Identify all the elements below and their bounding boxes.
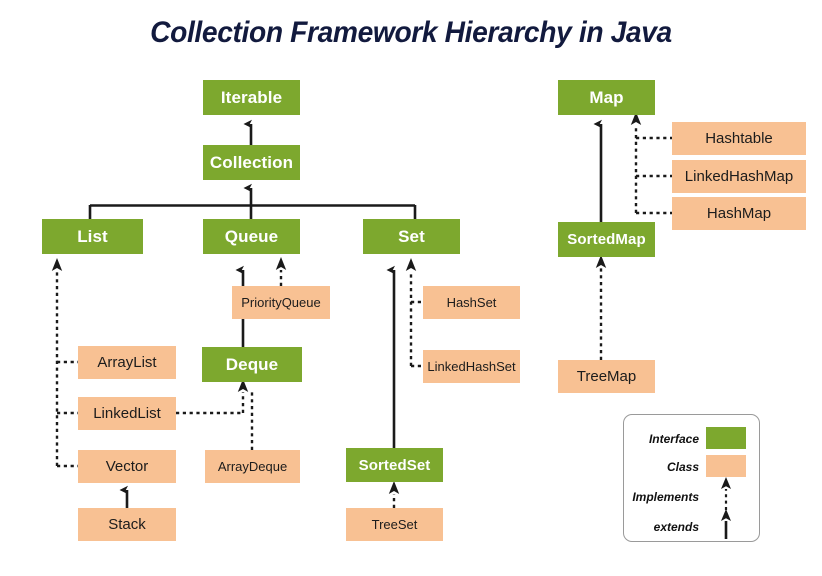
legend-swatch-class (706, 455, 746, 477)
node-label: List (77, 228, 108, 245)
node-deque[interactable]: Deque (202, 347, 302, 382)
node-label: Deque (226, 356, 278, 373)
node-label: Collection (210, 154, 293, 171)
node-vector[interactable]: Vector (78, 450, 176, 483)
node-label: Stack (108, 517, 146, 532)
node-label: PriorityQueue (241, 296, 320, 309)
node-label: HashMap (707, 206, 771, 221)
node-linkedhashset[interactable]: LinkedHashSet (423, 350, 520, 383)
node-arraydeque[interactable]: ArrayDeque (205, 450, 300, 483)
node-arraylist[interactable]: ArrayList (78, 346, 176, 379)
node-stack[interactable]: Stack (78, 508, 176, 541)
node-label: ArrayDeque (218, 460, 287, 473)
node-set[interactable]: Set (363, 219, 460, 254)
node-queue[interactable]: Queue (203, 219, 300, 254)
node-map[interactable]: Map (558, 80, 655, 115)
legend-label-extends: extends (654, 520, 699, 534)
node-treeset[interactable]: TreeSet (346, 508, 443, 541)
node-iterable[interactable]: Iterable (203, 80, 300, 115)
node-label: LinkedHashMap (685, 169, 793, 184)
diagram-canvas: Collection Framework Hierarchy in Java (0, 0, 822, 576)
node-label: Iterable (221, 89, 282, 106)
legend-label-class: Class (667, 460, 699, 474)
node-label: ArrayList (97, 355, 156, 370)
node-priorityqueue[interactable]: PriorityQueue (232, 286, 330, 319)
node-label: Vector (106, 459, 149, 474)
node-label: TreeMap (577, 369, 636, 384)
node-label: SortedMap (567, 232, 645, 247)
legend-label-interface: Interface (649, 432, 699, 446)
node-label: LinkedHashSet (427, 360, 515, 373)
node-sortedset[interactable]: SortedSet (346, 448, 443, 482)
node-linkedhashmap[interactable]: LinkedHashMap (672, 160, 806, 193)
node-collection[interactable]: Collection (203, 145, 300, 180)
node-label: Map (589, 89, 623, 106)
node-label: LinkedList (93, 406, 161, 421)
legend-label-implements: Implements (632, 490, 699, 504)
node-label: HashSet (447, 296, 497, 309)
node-label: Hashtable (705, 131, 773, 146)
node-hashtable[interactable]: Hashtable (672, 122, 806, 155)
node-sortedmap[interactable]: SortedMap (558, 222, 655, 257)
node-label: Set (398, 228, 425, 245)
node-treemap[interactable]: TreeMap (558, 360, 655, 393)
node-hashmap[interactable]: HashMap (672, 197, 806, 230)
node-linkedlist[interactable]: LinkedList (78, 397, 176, 430)
legend: Interface Class Implements extends (623, 414, 760, 542)
node-label: SortedSet (359, 458, 431, 473)
node-label: Queue (225, 228, 278, 245)
page-title: Collection Framework Hierarchy in Java (25, 16, 798, 50)
node-list[interactable]: List (42, 219, 143, 254)
node-hashset[interactable]: HashSet (423, 286, 520, 319)
legend-swatch-interface (706, 427, 746, 449)
node-label: TreeSet (372, 518, 418, 531)
